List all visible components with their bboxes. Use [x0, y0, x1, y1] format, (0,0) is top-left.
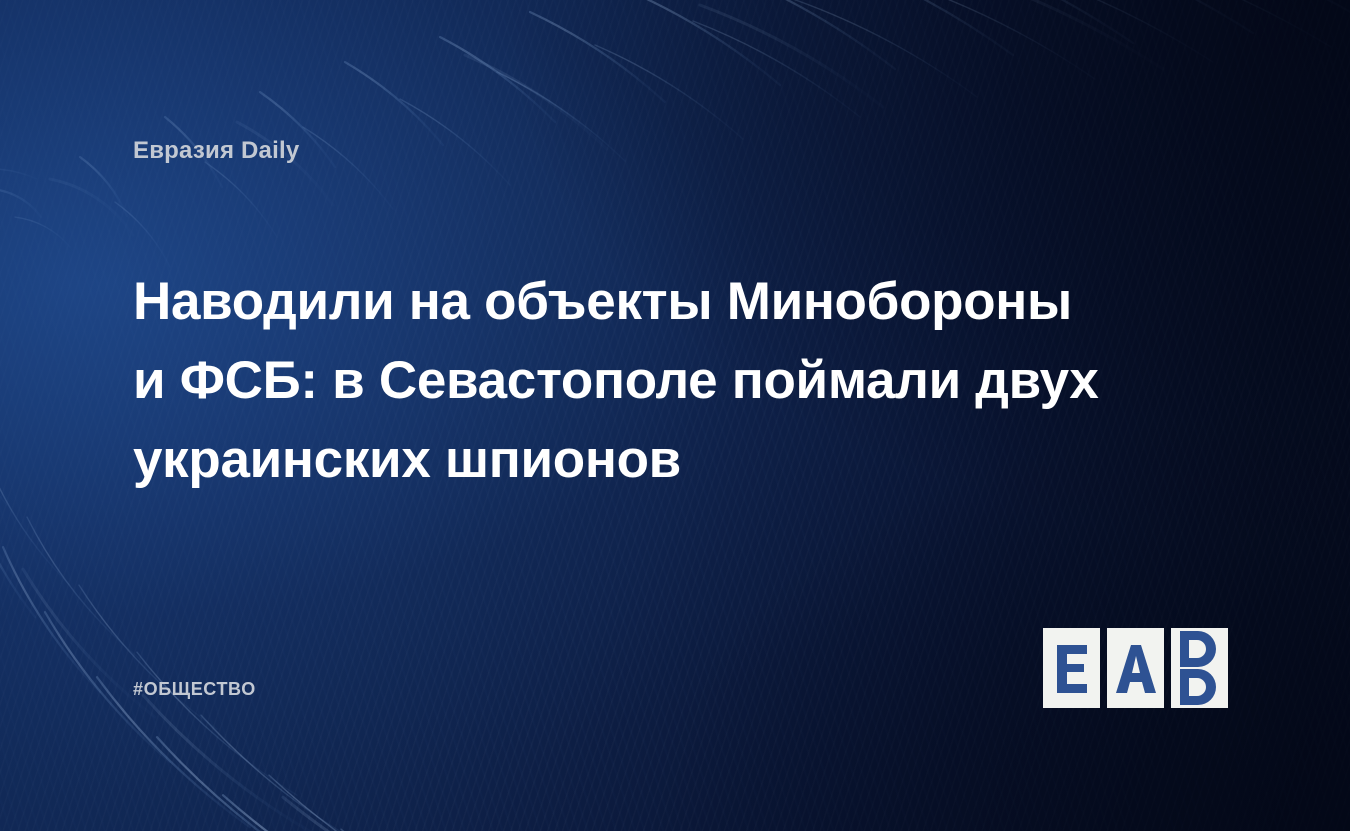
letter-a-icon [1115, 643, 1157, 693]
headline-line-2: и ФСБ: в Севастополе поймали двух [133, 341, 1143, 420]
news-social-card: Евразия Daily Наводили на объекты Минобо… [0, 0, 1350, 831]
eadaily-logo[interactable] [1043, 628, 1228, 708]
stacked-d-mark-icon [1176, 631, 1224, 705]
logo-tile-e [1043, 628, 1100, 708]
category-tag[interactable]: #ОБЩЕСТВО [133, 679, 256, 700]
logo-tile-stacked-d [1171, 628, 1228, 708]
letter-e-icon [1054, 643, 1090, 693]
card-content: Евразия Daily Наводили на объекты Минобо… [0, 0, 1350, 831]
page-title: Наводили на объекты Минобороны и ФСБ: в … [133, 262, 1143, 499]
brand-wordmark: Евразия Daily [133, 137, 299, 165]
headline-line-3: украинских шпионов [133, 420, 1143, 499]
logo-tile-a [1107, 628, 1164, 708]
headline-line-1: Наводили на объекты Минобороны [133, 262, 1143, 341]
